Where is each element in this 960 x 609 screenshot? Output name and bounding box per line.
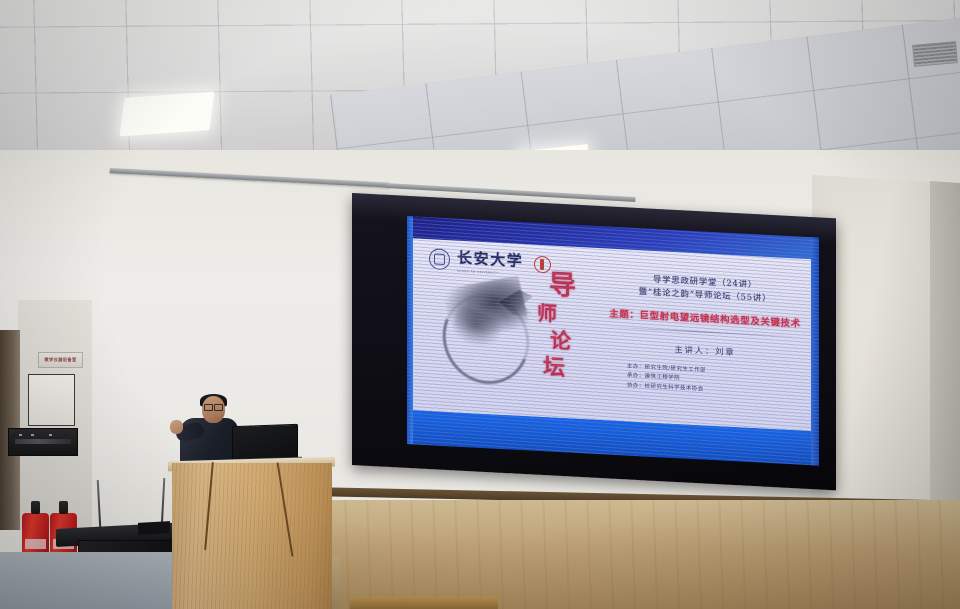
rack-panel-strip	[15, 439, 71, 444]
rack-led-3	[49, 434, 52, 436]
podium	[172, 463, 332, 609]
vertical-char-1: 导	[549, 271, 576, 299]
rack-led-2	[31, 434, 34, 436]
wall-cabinet-door[interactable]	[28, 374, 75, 426]
audio-module	[138, 521, 170, 535]
ink-fish-artwork	[441, 276, 537, 393]
presentation-slide[interactable]: 长安大学 CHANG'AN UNIVERSITY 导 师 论 坛 导学思政研学堂…	[407, 216, 819, 466]
vertical-char-4: 坛	[543, 356, 576, 380]
right-wall-edge	[930, 181, 960, 523]
university-seal-icon	[429, 248, 450, 270]
podium-base	[350, 597, 498, 609]
rack-led-1	[19, 434, 22, 436]
floor-left	[0, 552, 186, 609]
university-name-cn: 长安大学	[457, 247, 523, 271]
vertical-char-3: 论	[550, 329, 576, 351]
lecture-hall-photo: 长安大学 CHANG'AN UNIVERSITY 导 师 论 坛 导学思政研学堂…	[0, 0, 960, 609]
presenter-hand	[170, 420, 183, 434]
slide-speaker-line: 主讲人：刘章	[597, 339, 813, 362]
slide-text-block: 导学思政研学堂（24讲） 暨“桂论之韵”导师论坛（55讲） 主题：巨型射电望远镜…	[597, 270, 813, 401]
floor-right-texture	[326, 500, 960, 609]
equipment-rack[interactable]	[8, 428, 78, 456]
slide-subject-title: 主题：巨型射电望远镜结构选型及关键技术	[597, 305, 813, 330]
ceiling-light-panel-1	[119, 92, 214, 137]
wall-sign: 教学仪器设备室	[38, 352, 83, 368]
air-vent-icon	[912, 41, 958, 67]
wall-sign-label: 教学仪器设备室	[44, 357, 76, 363]
vertical-char-2: 师	[537, 303, 576, 325]
glasses-icon	[204, 404, 223, 409]
vertical-forum-title: 导 师 论 坛	[537, 271, 576, 380]
podium-wood-grain	[172, 463, 332, 609]
slide-left-edge	[407, 216, 413, 444]
